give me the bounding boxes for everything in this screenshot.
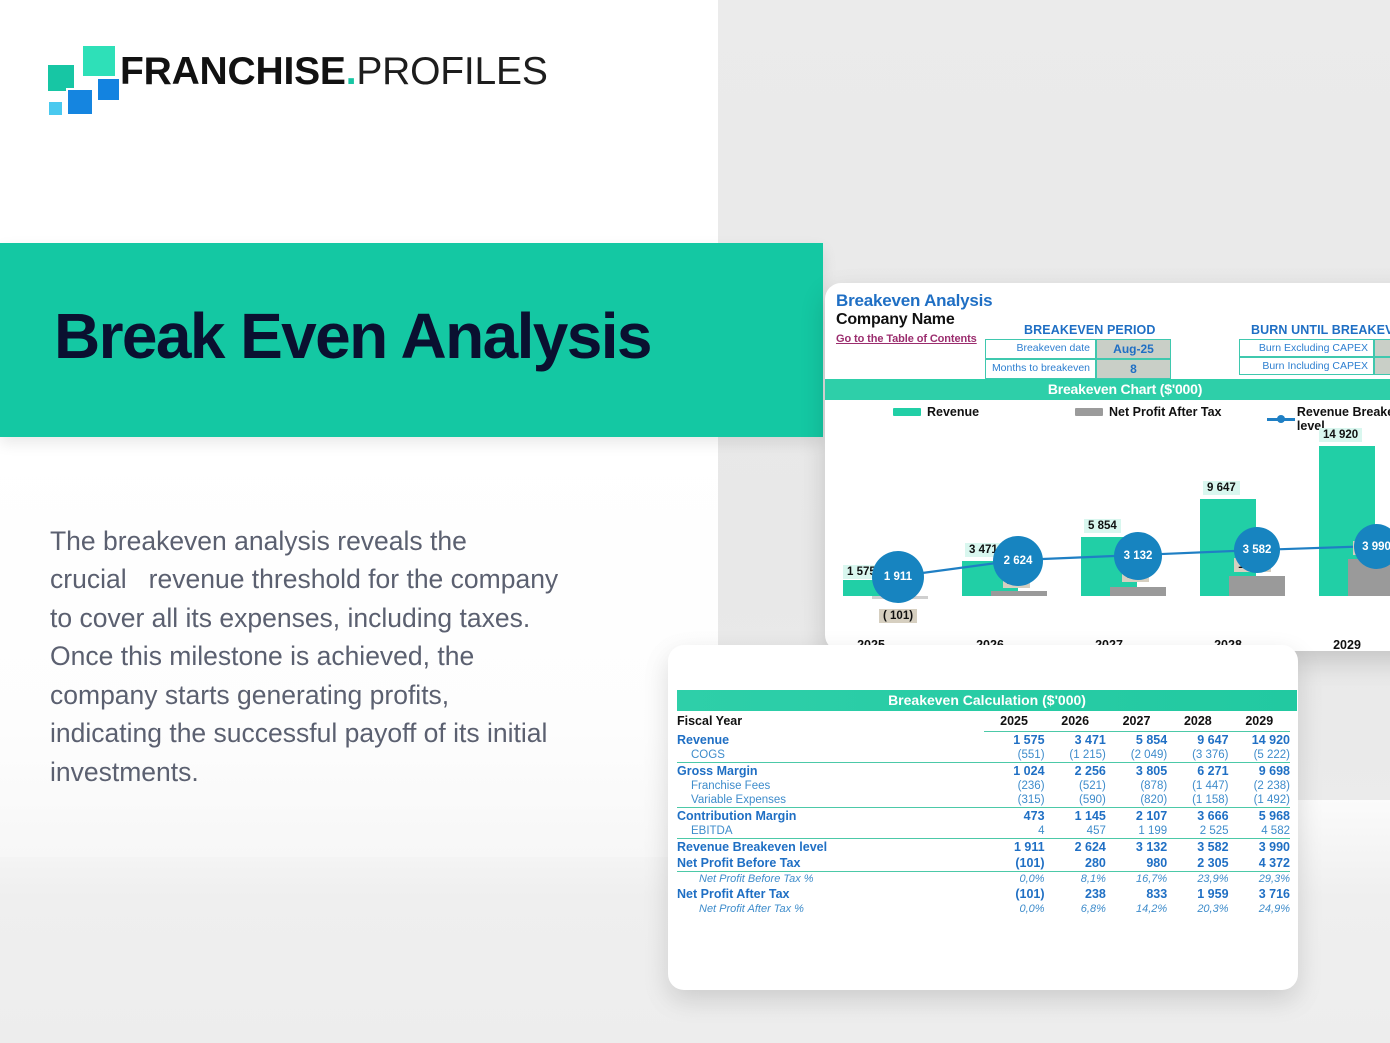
row-value: 3 132: [1106, 839, 1167, 856]
row-value: (1 492): [1229, 793, 1290, 808]
row-value: 9 647: [1167, 732, 1228, 749]
row-value: 238: [1045, 886, 1106, 902]
legend-label: Revenue: [927, 405, 979, 419]
table-header-row: Fiscal Year 2025 2026 2027 2028 2029: [677, 713, 1290, 732]
row-value: 3 990: [1229, 839, 1290, 856]
row-label: Net Profit After Tax: [677, 886, 984, 902]
brand-name-light: PROFILES: [356, 50, 547, 93]
legend-swatch-line-icon: [1267, 415, 1291, 423]
row-value: 8,1%: [1045, 872, 1106, 887]
breakeven-calculation-card: Breakeven Calculation ($'000) Fiscal Yea…: [668, 645, 1298, 990]
row-value: (1 158): [1167, 793, 1228, 808]
months-to-breakeven-label: Months to breakeven: [985, 359, 1096, 379]
row-value: (551): [984, 748, 1045, 763]
row-value: (2 238): [1229, 779, 1290, 793]
brand-name-dot: .: [346, 50, 357, 93]
table-row: Revenue Breakeven level1 9112 6243 1323 …: [677, 839, 1290, 856]
brand-name-bold: FRANCHISE: [120, 50, 346, 93]
row-value: 1 024: [984, 763, 1045, 780]
breakeven-chart-card: Breakeven Analysis Company Name Go to th…: [825, 283, 1390, 651]
burn-excluding-capex-label: Burn Excluding CAPEX: [1239, 339, 1374, 357]
row-value: 23,9%: [1167, 872, 1228, 887]
bar-npat-2026[interactable]: [991, 591, 1047, 596]
table-header-2025: 2025: [984, 713, 1045, 732]
row-value: (1 215): [1045, 748, 1106, 763]
row-label: Franchise Fees: [677, 779, 984, 793]
chart-legend: Revenue Net Profit After Tax Revenue Bre…: [825, 405, 1390, 425]
row-value: 5 854: [1106, 732, 1167, 749]
table-header-fiscal-year: Fiscal Year: [677, 713, 984, 732]
table-row: Net Profit Before Tax %0,0%8,1%16,7%23,9…: [677, 872, 1290, 887]
row-value: (5 222): [1229, 748, 1290, 763]
page-title: Break Even Analysis: [54, 303, 651, 370]
company-name: Company Name: [836, 311, 955, 329]
row-label: Contribution Margin: [677, 808, 984, 825]
row-value: (2 049): [1106, 748, 1167, 763]
row-value: 3 666: [1167, 808, 1228, 825]
brand-logo: FRANCHISE.PROFILES: [44, 42, 548, 100]
row-value: 24,9%: [1229, 902, 1290, 916]
row-value: 4 582: [1229, 824, 1290, 839]
row-value: 4 372: [1229, 855, 1290, 872]
row-value: 9 698: [1229, 763, 1290, 780]
row-value: (101): [984, 855, 1045, 872]
row-value: 2 624: [1045, 839, 1106, 856]
row-value: 14,2%: [1106, 902, 1167, 916]
burn-including-capex-value[interactable]: [1374, 357, 1390, 375]
table-title: Breakeven Calculation ($'000): [677, 690, 1297, 711]
legend-item-revenue: Revenue: [893, 405, 979, 419]
table-header-2029: 2029: [1229, 713, 1290, 732]
table-row: Franchise Fees(236)(521)(878)(1 447)(2 2…: [677, 779, 1290, 793]
row-value: 980: [1106, 855, 1167, 872]
row-label: EBITDA: [677, 824, 984, 839]
row-value: 0,0%: [984, 902, 1045, 916]
breakeven-date-value[interactable]: Aug-25: [1096, 339, 1171, 359]
row-value: 2 525: [1167, 824, 1228, 839]
months-to-breakeven-value[interactable]: 8: [1096, 359, 1171, 379]
row-value: 1 145: [1045, 808, 1106, 825]
page-description: The breakeven analysis reveals the cruci…: [50, 522, 630, 791]
data-label-revenue-2029: 14 920: [1319, 428, 1362, 442]
row-value: 457: [1045, 824, 1106, 839]
row-value: 3 805: [1106, 763, 1167, 780]
row-value: 3 716: [1229, 886, 1290, 902]
row-value: 3 582: [1167, 839, 1228, 856]
bar-npat-2027[interactable]: [1110, 587, 1166, 596]
table-of-contents-link[interactable]: Go to the Table of Contents: [836, 333, 977, 345]
row-value: (521): [1045, 779, 1106, 793]
row-label: COGS: [677, 748, 984, 763]
table-row: Burn Including CAPEX: [1239, 357, 1390, 375]
logo-squares-icon: [44, 42, 106, 100]
x-tick-2029: 2029: [1319, 638, 1375, 651]
row-value: 2 305: [1167, 855, 1228, 872]
table-header-2027: 2027: [1106, 713, 1167, 732]
row-value: 29,3%: [1229, 872, 1290, 887]
row-value: 1 911: [984, 839, 1045, 856]
bubble-breakeven-2026[interactable]: 2 624: [993, 536, 1043, 586]
row-value: 14 920: [1229, 732, 1290, 749]
row-value: (236): [984, 779, 1045, 793]
row-label: Revenue Breakeven level: [677, 839, 984, 856]
row-label: Net Profit Before Tax: [677, 855, 984, 872]
row-value: 1 959: [1167, 886, 1228, 902]
table-row: Net Profit Before Tax(101)2809802 3054 3…: [677, 855, 1290, 872]
row-value: 1 575: [984, 732, 1045, 749]
legend-label: Net Profit After Tax: [1109, 405, 1222, 419]
table-row: Revenue1 5753 4715 8549 64714 920: [677, 732, 1290, 749]
row-value: 0,0%: [984, 872, 1045, 887]
row-value: (315): [984, 793, 1045, 808]
table-row: Contribution Margin4731 1452 1073 6665 9…: [677, 808, 1290, 825]
table-row: Breakeven date Aug-25: [985, 339, 1171, 359]
table-row: Net Profit After Tax(101)2388331 9593 71…: [677, 886, 1290, 902]
burn-including-capex-label: Burn Including CAPEX: [1239, 357, 1374, 375]
row-value: (590): [1045, 793, 1106, 808]
burn-until-breakeven-heading: BURN UNTIL BREAKEVEN: [1251, 323, 1390, 337]
row-label: Net Profit Before Tax %: [677, 872, 984, 887]
row-label: Net Profit After Tax %: [677, 902, 984, 916]
burn-excluding-capex-value[interactable]: [1374, 339, 1390, 357]
row-value: 1 199: [1106, 824, 1167, 839]
row-value: 16,7%: [1106, 872, 1167, 887]
row-value: 6,8%: [1045, 902, 1106, 916]
row-value: 6 271: [1167, 763, 1228, 780]
row-value: 833: [1106, 886, 1167, 902]
table-row: Gross Margin1 0242 2563 8056 2719 698: [677, 763, 1290, 780]
bar-npat-2028[interactable]: [1229, 576, 1285, 596]
row-value: (878): [1106, 779, 1167, 793]
legend-swatch-bar-icon: [893, 408, 921, 416]
breakeven-calculation-table: Fiscal Year 2025 2026 2027 2028 2029 Rev…: [677, 713, 1290, 916]
row-value: 2 256: [1045, 763, 1106, 780]
table-row: EBITDA44571 1992 5254 582: [677, 824, 1290, 839]
row-label: Gross Margin: [677, 763, 984, 780]
row-label: Variable Expenses: [677, 793, 984, 808]
table-row: Months to breakeven 8: [985, 359, 1171, 379]
data-label-revenue-2028: 9 647: [1203, 481, 1240, 495]
row-value: 280: [1045, 855, 1106, 872]
chart-plot-area: 1 575 3 471 5 854 9 647 14 920 ( 101) 23…: [825, 431, 1390, 651]
row-value: 473: [984, 808, 1045, 825]
row-label: Revenue: [677, 732, 984, 749]
breakeven-period-table: Breakeven date Aug-25 Months to breakeve…: [985, 339, 1171, 379]
row-value: 4: [984, 824, 1045, 839]
row-value: 3 471: [1045, 732, 1106, 749]
table-header-2028: 2028: [1167, 713, 1228, 732]
legend-item-net-profit-after-tax: Net Profit After Tax: [1075, 405, 1222, 419]
bubble-breakeven-2025[interactable]: 1 911: [872, 551, 924, 603]
burn-until-breakeven-table: Burn Excluding CAPEX Burn Including CAPE…: [1239, 339, 1390, 375]
bubble-breakeven-2027[interactable]: 3 132: [1114, 532, 1162, 580]
table-row: Variable Expenses(315)(590)(820)(1 158)(…: [677, 793, 1290, 808]
legend-swatch-bar-icon: [1075, 408, 1103, 416]
table-header-2026: 2026: [1045, 713, 1106, 732]
background-white-top: [0, 0, 718, 243]
row-value: 20,3%: [1167, 902, 1228, 916]
table-row: Net Profit After Tax %0,0%6,8%14,2%20,3%…: [677, 902, 1290, 916]
breakeven-date-label: Breakeven date: [985, 339, 1096, 359]
table-row: COGS(551)(1 215)(2 049)(3 376)(5 222): [677, 748, 1290, 763]
row-value: (820): [1106, 793, 1167, 808]
row-value: 2 107: [1106, 808, 1167, 825]
breakeven-period-heading: BREAKEVEN PERIOD: [1024, 323, 1155, 337]
row-value: (1 447): [1167, 779, 1228, 793]
row-value: 5 968: [1229, 808, 1290, 825]
brand-wordmark: FRANCHISE.PROFILES: [120, 52, 548, 91]
chart-title: Breakeven Chart ($'000): [825, 379, 1390, 400]
sheet-title: Breakeven Analysis: [836, 291, 992, 311]
row-value: (101): [984, 886, 1045, 902]
data-label-revenue-2027: 5 854: [1084, 519, 1121, 533]
bubble-breakeven-2028[interactable]: 3 582: [1234, 527, 1280, 573]
data-label-npat-2025: ( 101): [879, 609, 917, 623]
table-row: Burn Excluding CAPEX: [1239, 339, 1390, 357]
row-value: (3 376): [1167, 748, 1228, 763]
